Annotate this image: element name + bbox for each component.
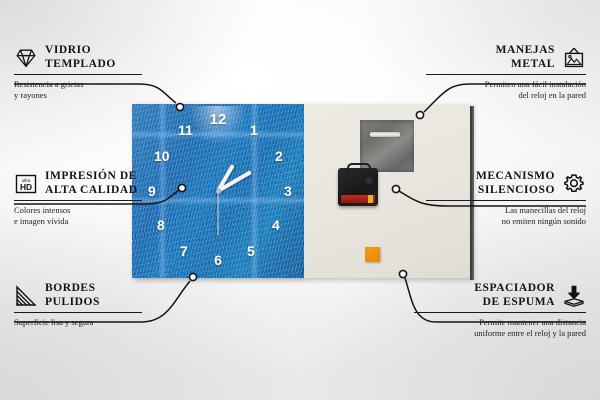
connector-dot-6: [399, 270, 406, 277]
callout-impresion-alta-calidad[interactable]: ultra HD IMPRESIÓN DE ALTA CALIDAD Color…: [14, 170, 142, 227]
callout-title: MECANISMO SILENCIOSO: [476, 170, 555, 197]
callout-description: Resistencia a grietas y rayones: [14, 79, 142, 101]
callout-header: MANEJAS METAL: [426, 44, 586, 71]
picture-frame-hanger-icon: [562, 46, 586, 70]
callout-vidrio-templado[interactable]: VIDRIO TEMPLADO Resistencia a grietas y …: [14, 44, 142, 101]
polished-edge-icon: [14, 284, 38, 308]
callout-header: ESPACIADOR DE ESPUMA: [414, 282, 586, 309]
callout-divider: [14, 312, 142, 313]
diamond-icon: [14, 46, 38, 70]
callout-header: VIDRIO TEMPLADO: [14, 44, 142, 71]
callout-divider: [414, 312, 586, 313]
callout-header: MECANISMO SILENCIOSO: [426, 170, 586, 197]
callout-espaciador-espuma[interactable]: ESPACIADOR DE ESPUMA Permite mantener un…: [414, 282, 586, 339]
callout-header: BORDES PULIDOS: [14, 282, 142, 309]
connector-dot-5: [392, 185, 399, 192]
svg-text:HD: HD: [20, 182, 32, 192]
callout-title: MANEJAS METAL: [496, 44, 555, 71]
foam-spacer-arrow-icon: [562, 284, 586, 308]
callout-title: BORDES PULIDOS: [45, 282, 100, 309]
callout-title: IMPRESIÓN DE ALTA CALIDAD: [45, 170, 138, 197]
callout-description: Colores intensos e imagen vívida: [14, 205, 142, 227]
callout-divider: [14, 200, 142, 201]
callout-description: Permiten una fácil instalación del reloj…: [426, 79, 586, 101]
callout-divider: [426, 200, 586, 201]
connector-dot-3: [189, 273, 196, 280]
connector-dot-4: [416, 111, 423, 118]
callout-manejas-metal[interactable]: MANEJAS METAL Permiten una fácil instala…: [426, 44, 586, 101]
infographic-canvas: 12 1 2 3 4 5 6 7 8 9 10 11: [0, 0, 600, 400]
gear-icon: [562, 172, 586, 196]
callout-bordes-pulidos[interactable]: BORDES PULIDOS Superficie lisa y segura: [14, 282, 142, 328]
callout-divider: [426, 74, 586, 75]
callout-header: ultra HD IMPRESIÓN DE ALTA CALIDAD: [14, 170, 142, 197]
callout-mecanismo-silencioso[interactable]: MECANISMO SILENCIOSO Las manecillas del …: [426, 170, 586, 227]
callout-divider: [14, 74, 142, 75]
ultra-hd-icon: ultra HD: [14, 172, 38, 196]
callout-description: Permite mantener una distancia uniforme …: [414, 317, 586, 339]
callout-title: VIDRIO TEMPLADO: [45, 44, 116, 71]
callout-description: Las manecillas del reloj no emiten ningú…: [426, 205, 586, 227]
connector-dot-1: [176, 103, 183, 110]
callout-description: Superficie lisa y segura: [14, 317, 142, 328]
callout-title: ESPACIADOR DE ESPUMA: [474, 282, 555, 309]
connector-dot-2: [178, 184, 185, 191]
